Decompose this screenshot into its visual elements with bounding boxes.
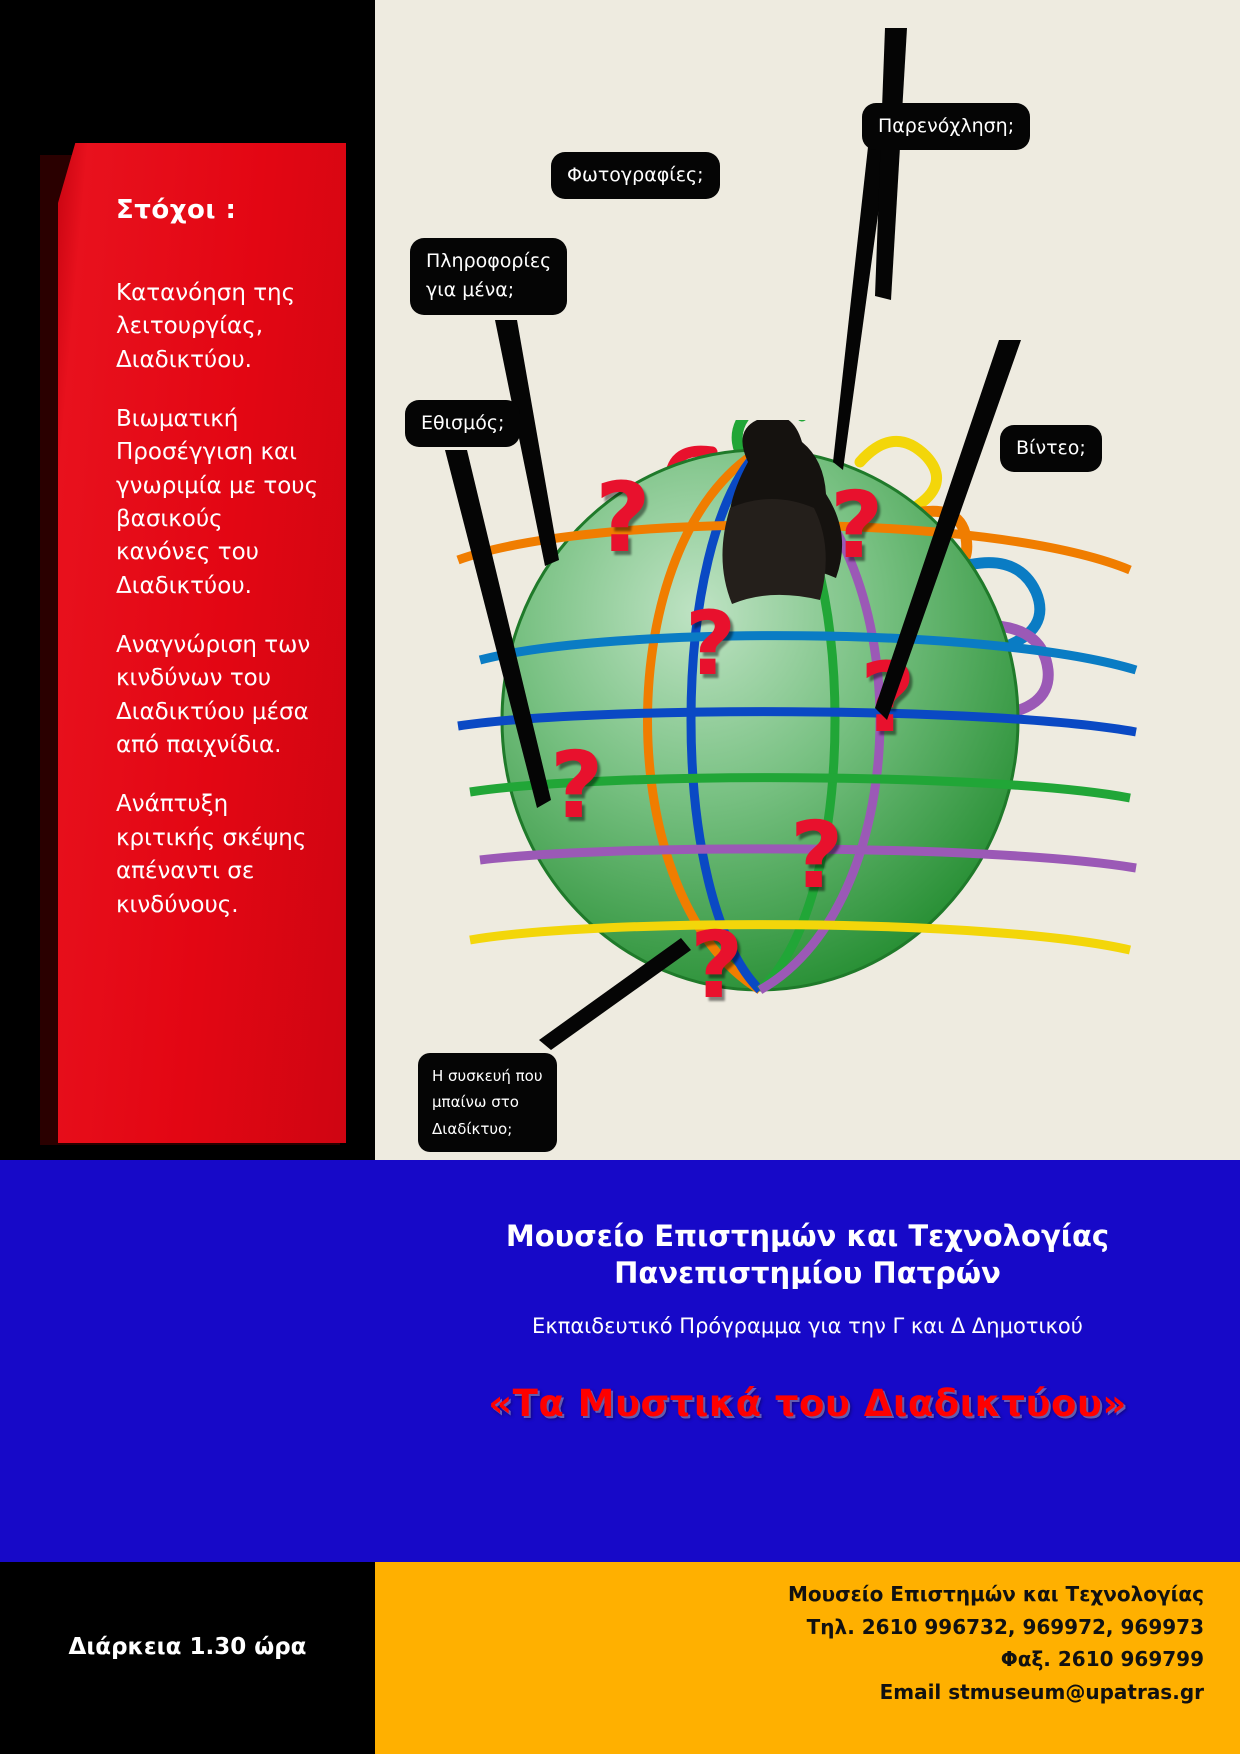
program-title: «Τα Μυστικά του Διαδικτύου» [375, 1382, 1240, 1425]
bubble-ethismos[interactable]: Εθισμός; [405, 400, 520, 447]
duration-strip: Διάρκεια 1.30 ώρα [0, 1562, 375, 1754]
objectives-title: Στόχοι : [116, 195, 324, 225]
bubble-fotografies[interactable]: Φωτογραφίες; [551, 152, 720, 199]
program-subtitle: Εκπαιδευτικό Πρόγραμμα για την Γ και Δ Δ… [375, 1314, 1240, 1338]
bubble-parenoxlisi[interactable]: Παρενόχληση; [862, 103, 1030, 150]
pointer-device [539, 938, 691, 1050]
bubble-video[interactable]: Βίντεο; [1000, 425, 1102, 472]
contact-fax: Φαξ. 2610 969799 [788, 1643, 1204, 1676]
contact-name: Μουσείο Επιστημών και Τεχνολογίας [788, 1578, 1204, 1611]
artwork-panel: ? ? ? ? ? ? ? Παρενόχληση; Φωτογραφίες; … [375, 0, 1240, 1160]
museum-name-line1: Μουσείο Επιστημών και Τεχνολογίας [375, 1160, 1240, 1255]
contact-email[interactable]: Email stmuseum@upatras.gr [788, 1676, 1204, 1709]
duration-text: Διάρκεια 1.30 ώρα [0, 1634, 375, 1660]
museum-name-line2: Πανεπιστημίου Πατρών [375, 1255, 1240, 1292]
objective-item: Αναγνώριση των κινδύνων του Διαδικτύου μ… [116, 629, 324, 762]
contact-box: Μουσείο Επιστημών και Τεχνολογίας Τηλ. 2… [375, 1562, 1240, 1754]
pointer-video [875, 340, 1021, 720]
bubble-plirofories[interactable]: Πληροφορίες για μένα; [410, 238, 567, 315]
footer-blue-band: Μουσείο Επιστημών και Τεχνολογίας Πανεπι… [0, 1160, 1240, 1562]
bubble-device[interactable]: Η συσκευή που μπαίνω στο Διαδίκτυο; [418, 1053, 557, 1152]
objectives-panel: Στόχοι : Κατανόηση της λειτουργίας, Διαδ… [58, 143, 346, 1143]
objective-item: Ανάπτυξη κριτικής σκέψης απέναντι σε κιν… [116, 788, 324, 921]
poster-root: ? ? ? ? ? ? ? Παρενόχληση; Φωτογραφίες; … [0, 0, 1240, 1754]
bubble-pointer-lines [375, 0, 1240, 1160]
objective-item: Βιωματική Προσέγγιση και γνωριμία με του… [116, 403, 324, 603]
contact-details: Μουσείο Επιστημών και Τεχνολογίας Τηλ. 2… [788, 1578, 1204, 1708]
contact-phone: Τηλ. 2610 996732, 969972, 969973 [788, 1611, 1204, 1644]
objective-item: Κατανόηση της λειτουργίας, Διαδικτύου. [116, 277, 324, 377]
